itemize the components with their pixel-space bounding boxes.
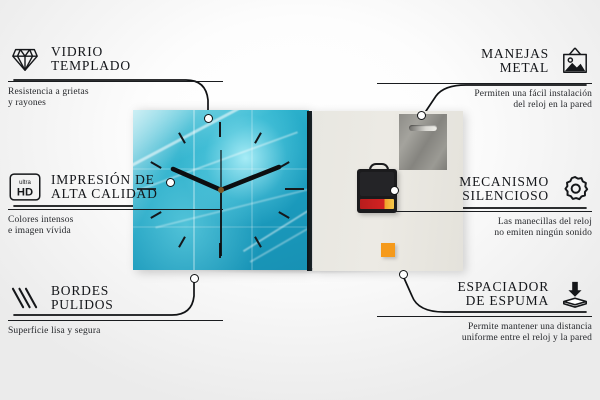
feature-rule <box>377 316 592 317</box>
feature-desc-line2: e imagen vívida <box>8 226 223 237</box>
gear-icon <box>558 172 592 206</box>
feature-rule <box>8 81 223 82</box>
feature-rule <box>377 83 592 84</box>
feature-title-line1: IMPRESIÓN DE <box>51 173 158 188</box>
metal-hanger-plate <box>399 114 447 170</box>
feature-desc-line2: uniforme entre el reloj y la pared <box>377 333 592 344</box>
infographic-canvas: VIDRIO TEMPLADO Resistencia a grietas y … <box>0 0 600 400</box>
foam-spacer <box>381 243 395 257</box>
clock-side-edge <box>307 111 312 271</box>
foam-spacer-icon <box>558 277 592 311</box>
feature-title-line2: DE ESPUMA <box>457 294 549 309</box>
feature-manejas-metal: MANEJAS METAL Permiten una fácil instala… <box>377 44 592 112</box>
feature-title-line1: MECANISMO <box>459 175 549 190</box>
feature-espaciador-espuma: ESPACIADOR DE ESPUMA Permite mantener un… <box>377 277 592 345</box>
diamond-icon <box>8 42 42 76</box>
minute-hand <box>221 167 279 190</box>
feature-desc-line2: no emiten ningún sonido <box>377 228 592 239</box>
picture-hanger-icon <box>558 44 592 78</box>
connector-dot-vidrio-templado <box>204 114 213 123</box>
feature-title-line1: BORDES <box>51 284 114 299</box>
feature-vidrio-templado: VIDRIO TEMPLADO Resistencia a grietas y … <box>8 42 223 110</box>
feature-desc-line1: Superficie lisa y segura <box>8 326 223 337</box>
feature-rule <box>377 211 592 212</box>
feature-impresion-alta-calidad: ultra HD IMPRESIÓN DE ALTA CALIDAD Color… <box>8 170 223 238</box>
feature-desc-line1: Permite mantener una distancia <box>377 322 592 333</box>
feature-rule <box>8 320 223 321</box>
feature-desc-line2: y rayones <box>8 98 223 109</box>
feature-desc-line1: Permiten una fácil instalación <box>377 89 592 100</box>
feature-desc-line1: Resistencia a grietas <box>8 87 223 98</box>
feature-title-line2: SILENCIOSO <box>459 189 549 204</box>
connector-dot-manejas <box>417 111 426 120</box>
feature-title-line1: ESPACIADOR <box>457 280 549 295</box>
feature-mecanismo-silencioso: MECANISMO SILENCIOSO Las manecillas del … <box>377 172 592 240</box>
ultra-hd-icon-text-top: ultra <box>19 180 31 186</box>
feature-title-line2: TEMPLADO <box>51 59 131 74</box>
ultra-hd-icon: ultra HD <box>8 170 42 204</box>
feature-desc-line1: Colores intensos <box>8 215 223 226</box>
feature-title-line1: MANEJAS <box>481 47 549 62</box>
polished-edges-icon <box>8 281 42 315</box>
feature-bordes-pulidos: BORDES PULIDOS Superficie lisa y segura <box>8 281 223 337</box>
feature-title-line1: VIDRIO <box>51 45 131 60</box>
feature-title-line2: ALTA CALIDAD <box>51 187 158 202</box>
feature-title-line2: METAL <box>481 61 549 76</box>
feature-title-line2: PULIDOS <box>51 298 114 313</box>
feature-rule <box>8 209 223 210</box>
hanger-slot <box>409 125 437 131</box>
feature-desc-line1: Las manecillas del reloj <box>377 217 592 228</box>
ultra-hd-icon-text-bottom: HD <box>17 186 33 198</box>
feature-desc-line2: del reloj en la pared <box>377 100 592 111</box>
